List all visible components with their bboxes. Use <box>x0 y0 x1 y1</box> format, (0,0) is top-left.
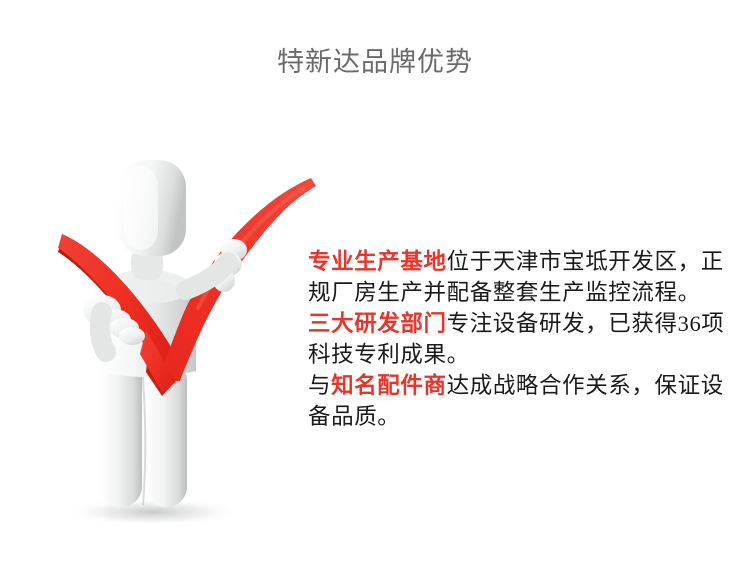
illustration-figure-with-checkmark <box>28 140 328 530</box>
highlight-production-base: 专业生产基地 <box>308 249 447 274</box>
figure-left-arm <box>100 312 106 352</box>
text-partners-prefix: 与 <box>308 373 331 398</box>
paragraph-partners: 与知名配件商达成战略合作关系，保证设备品质。 <box>308 370 728 432</box>
page-title: 特新达品牌优势 <box>0 44 750 80</box>
highlight-rd-departments: 三大研发部门 <box>308 311 447 336</box>
paragraph-production-base: 专业生产基地位于天津市宝坻开发区，正规厂房生产并配备整套生产监控流程。 <box>308 246 728 308</box>
slide-canvas: 特新达品牌优势 <box>0 0 750 577</box>
paragraph-rd-departments: 三大研发部门专注设备研发，已获得36项科技专利成果。 <box>308 308 728 370</box>
highlight-partners: 知名配件商 <box>331 373 447 398</box>
body-copy: 专业生产基地位于天津市宝坻开发区，正规厂房生产并配备整套生产监控流程。 三大研发… <box>308 246 728 432</box>
